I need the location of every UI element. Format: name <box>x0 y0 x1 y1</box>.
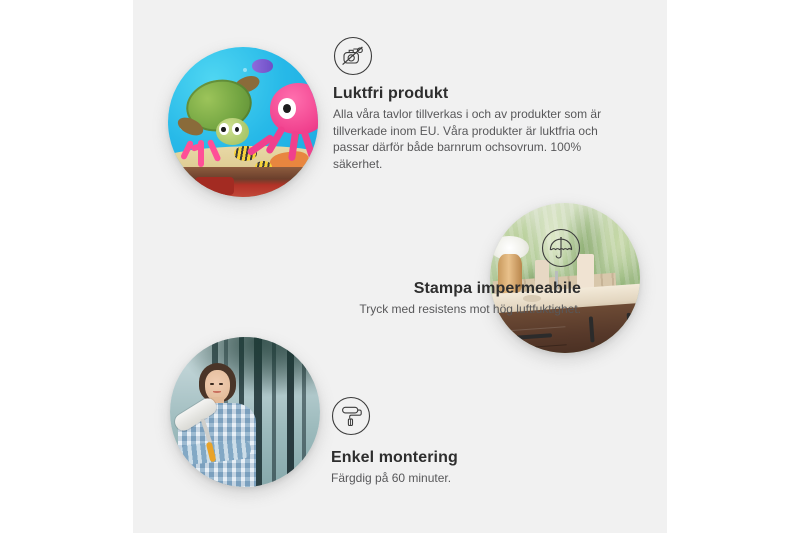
umbrella-icon <box>541 228 581 268</box>
feature-title: Stampa impermeabile <box>206 280 581 298</box>
tree-canopy <box>170 337 320 403</box>
feature-title: Luktfri produkt <box>333 85 629 103</box>
feature-description: Färgdig på 60 minuter. <box>331 470 631 487</box>
feature-odour-free: Luktfri produkt Alla våra tavlor tillver… <box>333 36 629 172</box>
purple-fish-icon <box>252 59 273 73</box>
bubble-icon <box>243 68 247 72</box>
woman-paint-roller-forest-photo <box>170 337 320 487</box>
promo-graphic: Luktfri produkt Alla våra tavlor tillver… <box>0 0 800 533</box>
octopus-icon <box>270 83 318 134</box>
no-fragrance-icon <box>333 36 629 76</box>
feature-easy-installation: Enkel montering Färgdig på 60 minuter. <box>331 396 631 487</box>
feature-description: Tryck med resistens mot hög luftfuktighe… <box>206 301 581 318</box>
paint-roller-icon <box>331 396 371 436</box>
underwater-cartoon-mural-photo <box>168 47 318 197</box>
grey-content-panel: Luktfri produkt Alla våra tavlor tillver… <box>133 0 667 533</box>
turtle-head <box>216 118 249 145</box>
feature-title: Enkel montering <box>331 449 631 467</box>
mural-bottom-strip <box>168 167 318 197</box>
feature-waterproof-print: Stampa impermeabile Tryck med resistens … <box>206 228 581 318</box>
feature-description: Alla våra tavlor tillverkas i och av pro… <box>333 106 629 172</box>
